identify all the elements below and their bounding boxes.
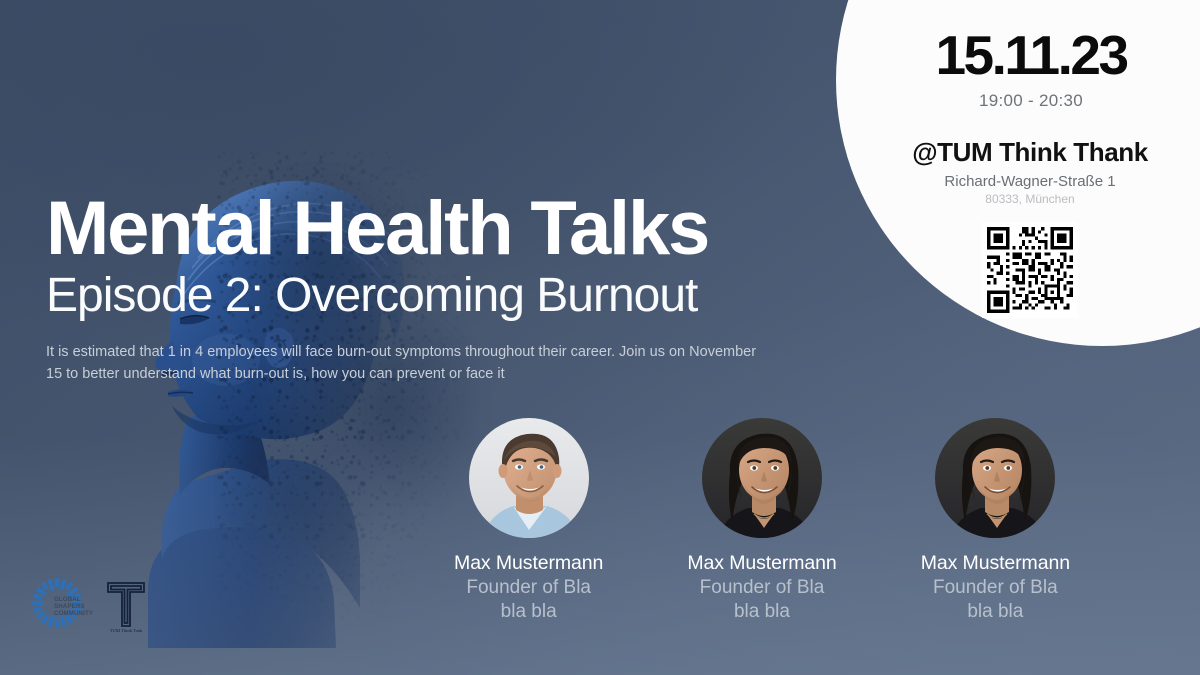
event-poster: 15.11.23 19:00 - 20:30 @TUM Think Thank …: [0, 0, 1200, 675]
speaker-role-line2: bla bla: [967, 601, 1023, 622]
gsc-line1: GLOBAL: [54, 596, 81, 603]
speaker-role-line1: Founder of Bla: [700, 577, 825, 598]
speaker-role-line1: Founder of Bla: [933, 577, 1058, 598]
event-date: 15.11.23: [935, 28, 1126, 83]
event-info-content: 15.11.23 19:00 - 20:30 @TUM Think Thank …: [836, 0, 1200, 330]
event-time: 19:00 - 20:30: [979, 91, 1083, 111]
gsc-line3: COMMUNITY: [54, 610, 94, 617]
global-shapers-community-logo: GLOBAL SHAPERS COMMUNITY: [26, 572, 88, 634]
event-venue: @TUM Think Thank: [912, 137, 1148, 168]
speaker-role-line2: bla bla: [501, 601, 557, 622]
speaker-role-line2: bla bla: [734, 601, 790, 622]
tum-think-tank-logo: TUM Think Tank: [102, 576, 150, 634]
event-address-line1: Richard-Wagner-Straße 1: [944, 173, 1115, 190]
speaker-name: Max Mustermann: [687, 552, 836, 575]
speaker-role: Founder of Bla bla bla: [933, 576, 1058, 625]
poster-title: Mental Health Talks: [46, 193, 866, 266]
speaker-name: Max Mustermann: [921, 552, 1070, 575]
speaker-role: Founder of Bla bla bla: [466, 576, 591, 625]
speaker-card: Max Mustermann Founder of Bla bla bla: [879, 418, 1112, 625]
gsc-line2: SHAPERS: [54, 603, 85, 610]
headline-block: Mental Health Talks Episode 2: Overcomin…: [46, 193, 866, 386]
speaker-photo-smiling-woman: [935, 418, 1055, 538]
speaker-card: Max Mustermann Founder of Bla bla bla: [412, 418, 645, 625]
speaker-role: Founder of Bla bla bla: [700, 576, 825, 625]
speaker-role-line1: Founder of Bla: [466, 577, 591, 598]
speaker-photo-smiling-woman: [702, 418, 822, 538]
logo-row: GLOBAL SHAPERS COMMUNITY TUM Think Tank: [26, 572, 150, 634]
poster-subtitle: Episode 2: Overcoming Burnout: [46, 270, 866, 323]
qr-code[interactable]: [982, 222, 1078, 318]
speaker-name: Max Mustermann: [454, 552, 603, 575]
event-address-line2: 80333, München: [985, 192, 1074, 206]
tum-think-tank-caption: TUM Think Tank: [110, 628, 143, 633]
speaker-card: Max Mustermann Founder of Bla bla bla: [645, 418, 878, 625]
speaker-list: Max Mustermann Founder of Bla bla bla: [412, 418, 1112, 625]
speaker-photo-smiling-man: [469, 418, 589, 538]
poster-description: It is estimated that 1 in 4 employees wi…: [46, 341, 776, 386]
